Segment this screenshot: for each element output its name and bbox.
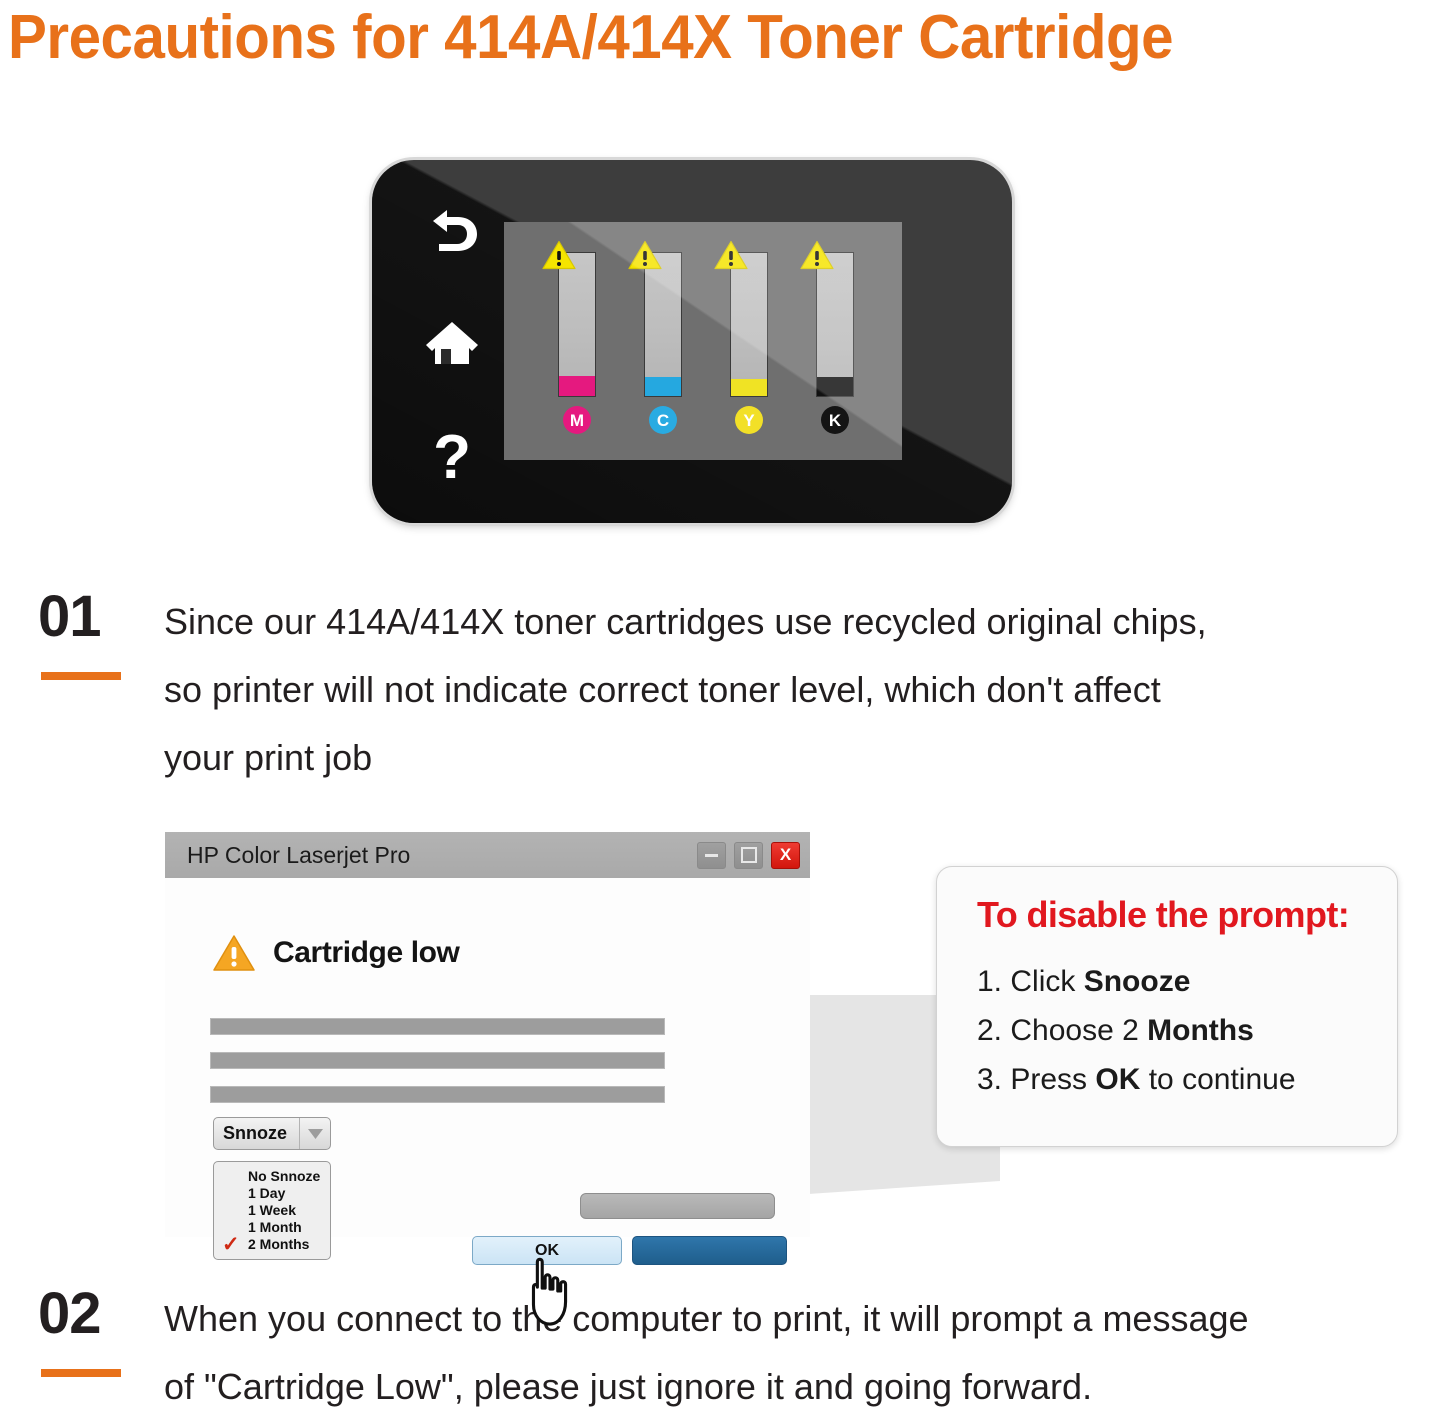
- toner-chip-y: Y: [735, 406, 763, 434]
- step-line: of "Cartridge Low", please just ignore i…: [164, 1353, 1249, 1421]
- step-line: your print job: [164, 724, 1207, 792]
- snooze-dropdown[interactable]: Snnoze: [213, 1117, 331, 1150]
- callout-step: 3. Press OK to continue: [977, 1055, 1377, 1104]
- placeholder-bar: [210, 1018, 665, 1035]
- toner-level-bar: [644, 252, 682, 397]
- window-controls: X: [697, 842, 800, 869]
- callout-step: 1. Click Snooze: [977, 957, 1377, 1006]
- toner-chip-k: K: [821, 406, 849, 434]
- snooze-option-label: 1 Month: [248, 1219, 302, 1235]
- help-button[interactable]: ?: [422, 428, 482, 488]
- printer-panel-buttons: ?: [402, 198, 502, 488]
- toner-chip-c: C: [649, 406, 677, 434]
- snooze-option[interactable]: ✓2 Months: [214, 1236, 330, 1253]
- toner-level-bar: [558, 252, 596, 397]
- callout-step-text-tail: to continue: [1140, 1063, 1295, 1096]
- snooze-dropdown-value: Snnoze: [214, 1123, 299, 1144]
- warning-triangle-icon: [800, 240, 834, 270]
- gray-bar-button[interactable]: [580, 1193, 775, 1219]
- callout-step-list: 1. Click Snooze2. Choose 2 Months3. Pres…: [977, 957, 1377, 1104]
- callout-title: To disable the prompt:: [977, 894, 1349, 936]
- toner-level-fill: [817, 377, 853, 396]
- toner-chip-m: M: [563, 406, 591, 434]
- dialog-titlebar: HP Color Laserjet Pro X: [165, 832, 810, 878]
- callout-step-text: Choose 2: [1010, 1014, 1147, 1047]
- snooze-option-label: No Snnoze: [248, 1168, 320, 1184]
- toner-level-fill: [645, 377, 681, 396]
- snooze-option-label: 1 Week: [248, 1202, 296, 1218]
- placeholder-bar: [210, 1052, 665, 1069]
- snooze-option-label: 1 Day: [248, 1185, 285, 1201]
- question-mark-icon: ?: [433, 427, 471, 489]
- step-line: so printer will not indicate correct ton…: [164, 656, 1207, 724]
- callout-box: To disable the prompt: 1. Click Snooze2.…: [936, 866, 1398, 1147]
- step-line: When you connect to the computer to prin…: [164, 1285, 1249, 1353]
- toner-level-fill: [559, 376, 595, 396]
- placeholder-bar: [210, 1086, 665, 1103]
- placeholder-text-bars: [210, 1018, 665, 1120]
- close-icon: X: [780, 845, 791, 865]
- hand-pointer-cursor: [520, 1256, 580, 1326]
- step-block-02: 02 When you connect to the computer to p…: [38, 1285, 1418, 1405]
- home-button[interactable]: [422, 313, 482, 373]
- step-block-01: 01 Since our 414A/414X toner cartridges …: [38, 588, 1418, 778]
- callout-step-number: 2.: [977, 1014, 1010, 1047]
- maximize-button[interactable]: [734, 842, 763, 869]
- warning-triangle-icon: [714, 240, 748, 270]
- step-text: Since our 414A/414X toner cartridges use…: [164, 588, 1207, 792]
- warning-triangle-icon: [542, 240, 576, 270]
- step-number: 01: [38, 588, 101, 646]
- checkmark-icon: ✓: [222, 1234, 240, 1255]
- callout-step-number: 3.: [977, 1063, 1010, 1096]
- maximize-icon: [741, 847, 757, 863]
- snooze-option-label: 2 Months: [248, 1236, 309, 1252]
- warning-triangle-icon: [213, 934, 255, 972]
- snooze-option[interactable]: 1 Day: [214, 1185, 330, 1202]
- step-number: 02: [38, 1285, 101, 1343]
- callout-step-emphasis: Snooze: [1084, 965, 1191, 998]
- callout-step-text: Click: [1010, 965, 1083, 998]
- back-button[interactable]: [422, 198, 482, 258]
- toner-column-y: Y: [718, 240, 780, 434]
- step-rule: [41, 1369, 121, 1377]
- callout-step-emphasis: Months: [1147, 1014, 1254, 1047]
- toner-level-fill: [731, 379, 767, 396]
- toner-level-row: MCYK: [546, 240, 866, 445]
- dialog-title: HP Color Laserjet Pro: [187, 842, 697, 869]
- printer-screen: MCYK: [504, 222, 902, 460]
- minimize-icon: [705, 854, 718, 857]
- callout-step-number: 1.: [977, 965, 1010, 998]
- snooze-option[interactable]: 1 Week: [214, 1202, 330, 1219]
- callout-step: 2. Choose 2 Months: [977, 1006, 1377, 1055]
- page-title: Precautions for 414A/414X Toner Cartridg…: [8, 0, 1352, 78]
- minimize-button[interactable]: [697, 842, 726, 869]
- toner-column-c: C: [632, 240, 694, 434]
- step-rule: [41, 672, 121, 680]
- toner-level-bar: [816, 252, 854, 397]
- toner-column-k: K: [804, 240, 866, 434]
- toner-level-bar: [730, 252, 768, 397]
- secondary-blue-button[interactable]: [632, 1236, 787, 1265]
- step-line: Since our 414A/414X toner cartridges use…: [164, 588, 1207, 656]
- dialog-body: Cartridge low Snnoze No Snnoze1 Day1 Wee…: [165, 878, 810, 1237]
- cartridge-low-heading: Cartridge low: [213, 934, 460, 972]
- printer-alert-dialog: HP Color Laserjet Pro X Cartridge low: [165, 832, 810, 1237]
- chevron-down-icon: [299, 1118, 330, 1149]
- home-icon: [424, 319, 480, 367]
- warning-triangle-icon: [628, 240, 662, 270]
- printer-control-panel: ? MCYK: [372, 160, 1012, 523]
- toner-column-m: M: [546, 240, 608, 434]
- snooze-option-list[interactable]: No Snnoze1 Day1 Week1 Month✓2 Months: [213, 1161, 331, 1260]
- callout-step-emphasis: OK: [1095, 1063, 1140, 1096]
- snooze-option[interactable]: No Snnoze: [214, 1168, 330, 1185]
- callout-step-text: Press: [1010, 1063, 1095, 1096]
- close-button[interactable]: X: [771, 842, 800, 869]
- back-arrow-icon: [425, 204, 479, 252]
- cartridge-low-label: Cartridge low: [273, 936, 460, 970]
